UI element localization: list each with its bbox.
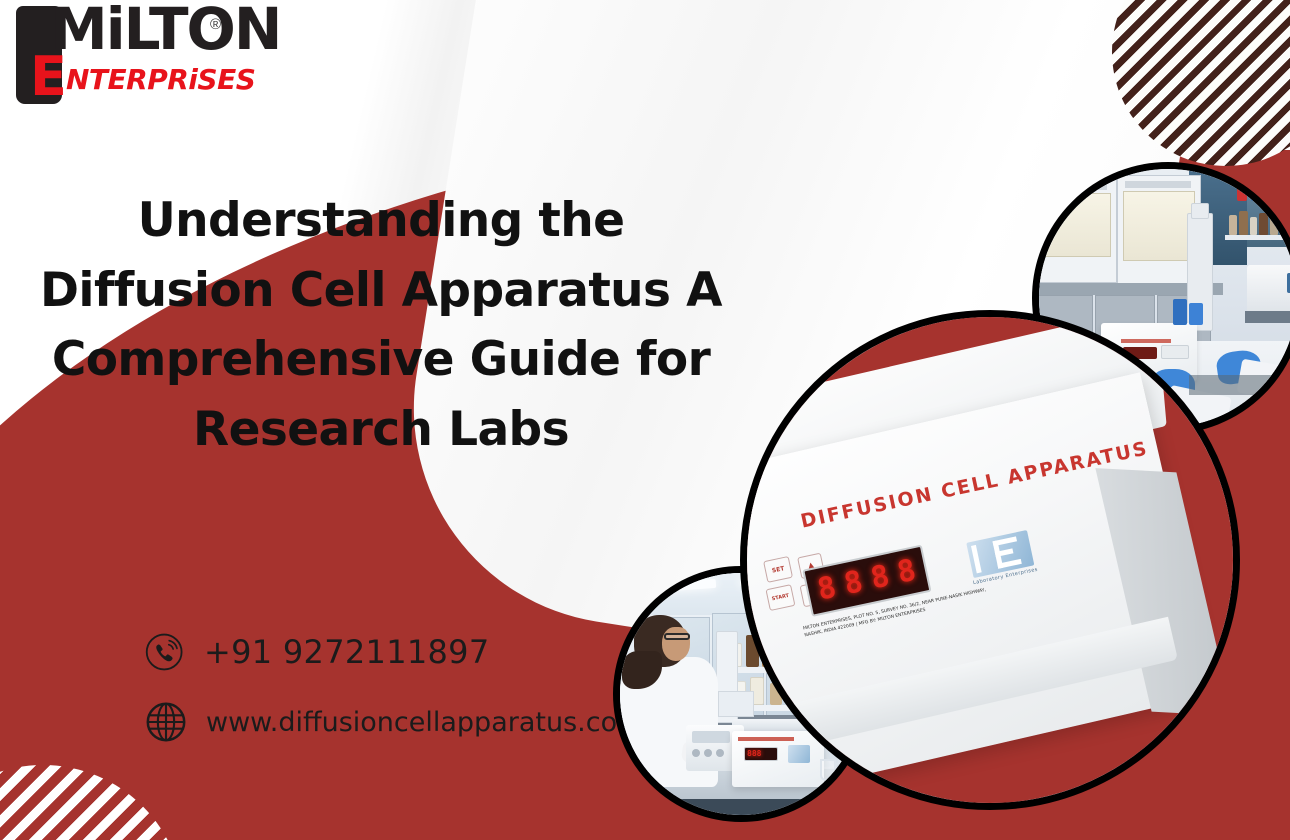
logo-subtitle: NTERPRiSES [66, 66, 255, 94]
globe-icon [142, 698, 190, 746]
brand-logo[interactable]: MiLTON ® E NTERPRiSES [16, 4, 230, 112]
contact-website-text: www.diffusioncellapparatus.com [206, 707, 643, 738]
device-start-button[interactable]: START [765, 584, 795, 611]
device-set-button[interactable]: SET [763, 556, 793, 583]
page-title: Understanding the Diffusion Cell Apparat… [16, 186, 746, 464]
contact-phone-row[interactable]: +91 9272111897 [142, 628, 643, 676]
logo-registered-icon: ® [210, 16, 221, 33]
device-digit: 8 [842, 567, 866, 600]
photo-device: DIFFUSION CELL APPARATUS SET ▲ START ▼ 8… [740, 310, 1240, 810]
phone-icon [142, 628, 190, 676]
contact-block: +91 9272111897 www.diffusioncellapparatu… [142, 628, 643, 768]
device-digit: 8 [868, 561, 892, 594]
logo-brand-name: MiLTON [50, 0, 280, 58]
contact-phone-text: +91 9272111897 [204, 633, 490, 671]
contact-website-row[interactable]: www.diffusioncellapparatus.com [142, 698, 643, 746]
banner-root: MiLTON ® E NTERPRiSES Understanding the … [0, 0, 1290, 840]
logo-letter-e: E [30, 50, 67, 104]
device-digit: 8 [815, 573, 839, 606]
device-digit: 8 [895, 556, 919, 589]
